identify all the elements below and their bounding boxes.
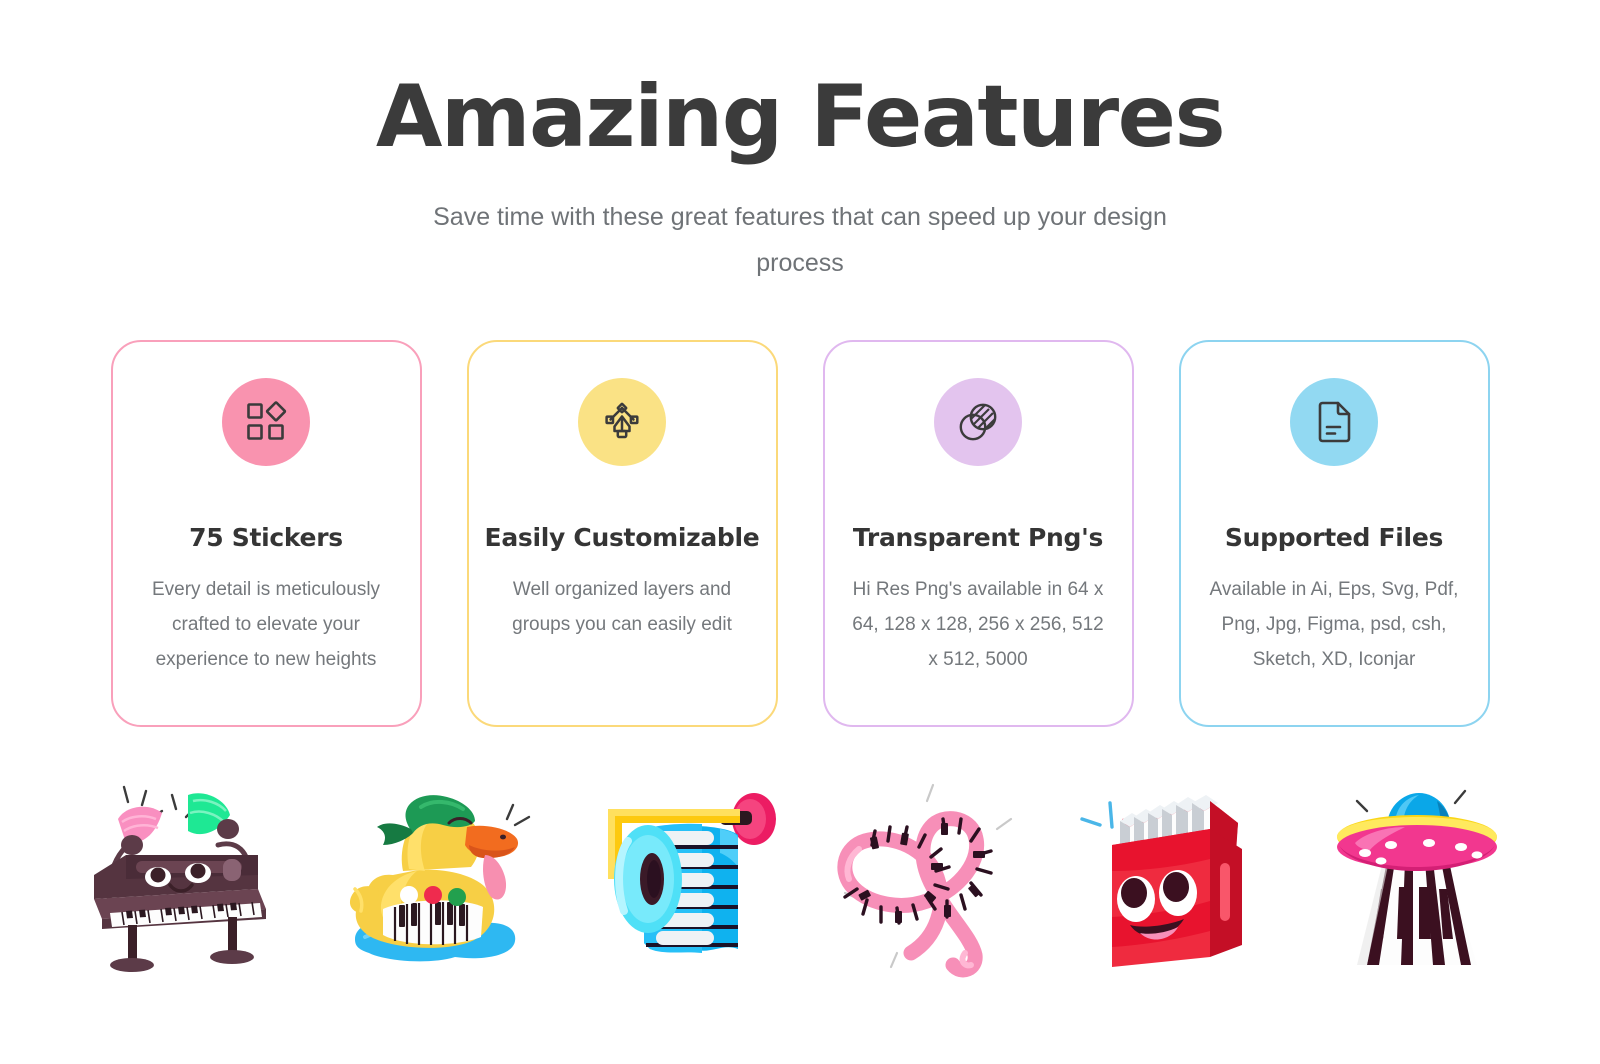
cigarette-pack-piano-illustration xyxy=(1060,767,1275,982)
transparency-circles-icon xyxy=(934,378,1022,466)
shapes-grid-icon xyxy=(222,378,310,466)
feature-card-customizable[interactable]: Easily Customizable Well organized layer… xyxy=(467,340,778,727)
card-description: Every detail is meticulously crafted to … xyxy=(135,572,397,677)
card-title: Supported Files xyxy=(1225,525,1443,550)
card-title: Easily Customizable xyxy=(485,525,760,550)
header: Amazing Features Save time with these gr… xyxy=(0,0,1600,286)
rubber-duck-piano-illustration xyxy=(325,767,540,982)
treble-clef-piano-illustration xyxy=(815,767,1030,982)
feature-cards-row: 75 Stickers Every detail is meticulously… xyxy=(0,340,1600,727)
card-description: Hi Res Png's available in 64 x 64, 128 x… xyxy=(847,572,1109,677)
page-subtitle: Save time with these great features that… xyxy=(420,194,1180,286)
card-title: Transparent Png's xyxy=(853,525,1103,550)
feature-card-transparent-png[interactable]: Transparent Png's Hi Res Png's available… xyxy=(823,340,1134,727)
page-title: Amazing Features xyxy=(0,74,1600,160)
card-title: 75 Stickers xyxy=(189,525,343,550)
pen-tool-icon xyxy=(578,378,666,466)
ufo-piano-beam-illustration xyxy=(1305,767,1520,982)
illustrations-row xyxy=(0,752,1600,982)
feature-section-page: Amazing Features Save time with these gr… xyxy=(0,0,1600,1064)
card-description: Available in Ai, Eps, Svg, Pdf, Png, Jpg… xyxy=(1203,572,1465,677)
card-description: Well organized layers and groups you can… xyxy=(491,572,753,642)
toy-piano-character-illustration xyxy=(80,767,295,982)
toilet-paper-piano-illustration xyxy=(570,767,785,982)
feature-card-stickers[interactable]: 75 Stickers Every detail is meticulously… xyxy=(111,340,422,727)
feature-card-supported-files[interactable]: Supported Files Available in Ai, Eps, Sv… xyxy=(1179,340,1490,727)
document-file-icon xyxy=(1290,378,1378,466)
